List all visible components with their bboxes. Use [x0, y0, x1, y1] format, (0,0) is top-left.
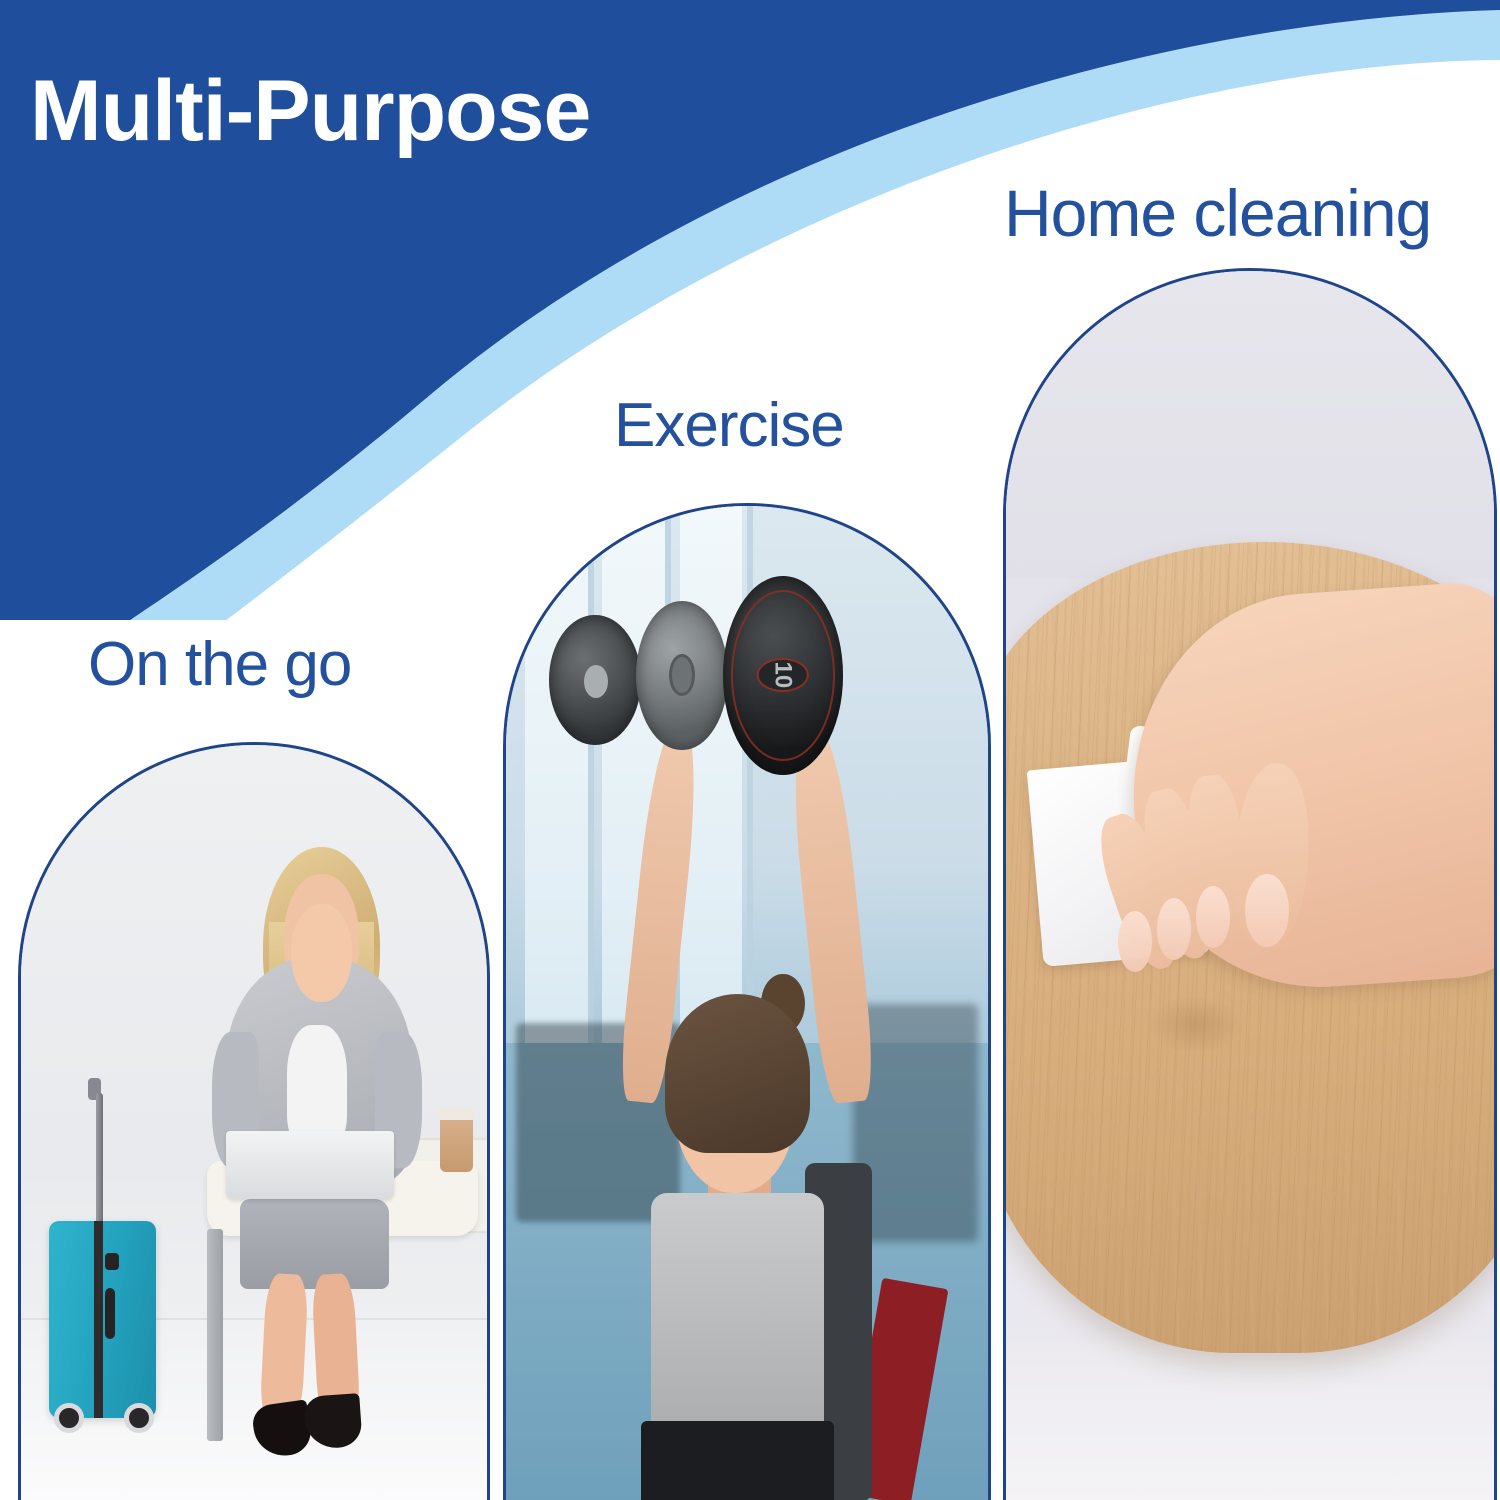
- tank-top: [651, 1193, 825, 1452]
- wood-knot: [1149, 996, 1241, 1053]
- window-post: [588, 506, 594, 1103]
- blouse: [287, 1025, 348, 1146]
- coffee-cup: [440, 1115, 473, 1172]
- thumbnail: [1245, 874, 1289, 948]
- suitcase-wheel: [124, 1403, 154, 1433]
- photo-on-the-go: [21, 745, 487, 1500]
- page-title: Multi-Purpose: [30, 68, 590, 154]
- panel-home-cleaning: [1003, 268, 1497, 1500]
- panel-exercise: 10: [503, 503, 991, 1500]
- dumbbell-plate-front: 10: [723, 576, 844, 775]
- dumbbell-plate-middle: [636, 601, 728, 750]
- suitcase-handle: [96, 1093, 103, 1229]
- suitcase-wheel: [54, 1403, 84, 1433]
- laptop: [226, 1131, 394, 1199]
- face: [291, 904, 352, 1002]
- dumbbell-plate-rear: [549, 615, 641, 744]
- panel-label-on-the-go: On the go: [88, 634, 351, 696]
- panel-label-exercise: Exercise: [614, 395, 844, 457]
- legs-trousers: [240, 1199, 389, 1290]
- shorts: [641, 1421, 834, 1500]
- plate-weight-label: 10: [757, 658, 809, 692]
- panel-on-the-go: [18, 742, 490, 1500]
- infographic-canvas: Multi-Purpose On the go: [0, 0, 1500, 1500]
- photo-exercise: 10: [506, 506, 988, 1500]
- fingernail: [1196, 886, 1230, 948]
- floor-background: [1006, 1341, 1494, 1500]
- gym-window: [525, 506, 588, 1103]
- wall-background: [1006, 271, 1494, 579]
- suitcase-lock: [105, 1288, 116, 1339]
- suitcase: [49, 1221, 156, 1418]
- hair: [665, 994, 810, 1153]
- photo-home-cleaning: [1006, 271, 1494, 1500]
- panel-label-home-cleaning: Home cleaning: [1004, 180, 1431, 246]
- bench-leg: [207, 1229, 223, 1441]
